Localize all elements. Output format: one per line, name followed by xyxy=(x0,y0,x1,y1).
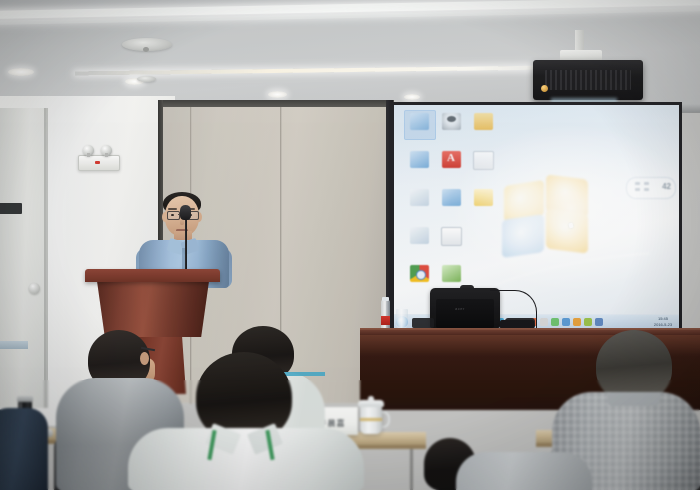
recessed-downlight xyxy=(404,94,420,100)
partition-track-rail xyxy=(158,100,394,107)
emergency-lamp-neck xyxy=(105,153,108,157)
sprinkler-head xyxy=(137,76,156,82)
presenter-eye-left xyxy=(171,214,174,216)
laptop-screen-back xyxy=(436,299,494,328)
projector-vent-grille xyxy=(545,70,631,90)
thermos-cap xyxy=(17,396,33,402)
lectern-microphone-stem xyxy=(185,214,187,272)
lectern-shading xyxy=(97,281,209,337)
teacup-lid-knob xyxy=(368,396,374,401)
projector-status-led xyxy=(541,85,548,92)
attendee-back-row-body xyxy=(456,452,592,490)
drinking-glass xyxy=(396,309,408,328)
desk-cables xyxy=(412,318,434,328)
cabinet-label-plate xyxy=(0,341,28,349)
recessed-downlight xyxy=(8,68,34,76)
attendee-grey-shirt-ear xyxy=(140,352,149,365)
service-cabinet-door[interactable] xyxy=(0,108,48,408)
bottle-label xyxy=(381,316,390,325)
recessed-downlight xyxy=(268,91,287,98)
teacup-gold-band xyxy=(360,418,382,421)
cabinet-knob[interactable] xyxy=(29,283,40,294)
teacup-lid xyxy=(358,400,384,407)
lectern-top xyxy=(85,269,220,282)
cabinet-seam xyxy=(44,108,46,408)
attendee-lanyard-body xyxy=(128,428,364,490)
emergency-lamp-neck xyxy=(87,153,90,157)
attendee-check-shirt-collar xyxy=(608,392,660,406)
ceiling-speaker-centre xyxy=(143,47,149,52)
laptop-brand-label: acer xyxy=(455,306,465,311)
presenter-brow-left xyxy=(168,208,177,210)
bottle-cap xyxy=(382,297,389,301)
emergency-indicator-led xyxy=(95,161,100,164)
cabinet-sign-label xyxy=(1,204,21,213)
conference-room-photo: 42 15:45 2016-5-23 acer xyxy=(0,0,700,490)
lectern-microphone-head xyxy=(180,205,191,220)
table-leg xyxy=(410,449,413,490)
attendee-navy-body xyxy=(0,408,48,490)
